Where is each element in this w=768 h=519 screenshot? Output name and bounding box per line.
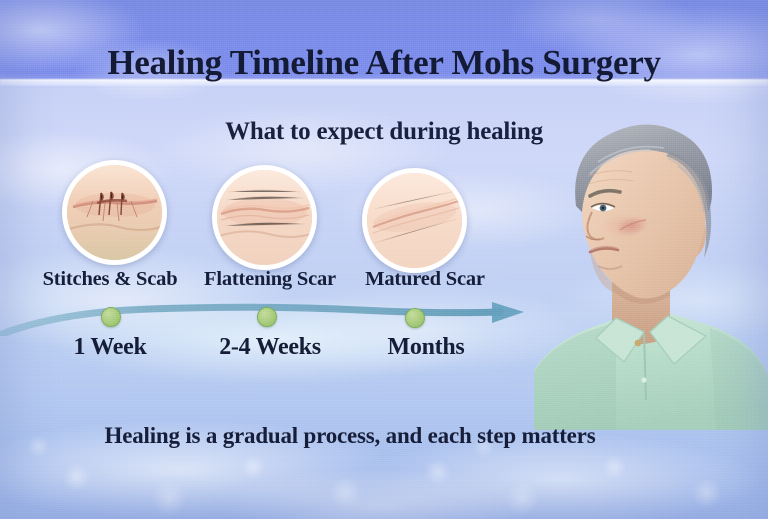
vignette-overlay [0,0,768,519]
infographic-poster: Healing Timeline After Mohs Surgery What… [0,0,768,519]
